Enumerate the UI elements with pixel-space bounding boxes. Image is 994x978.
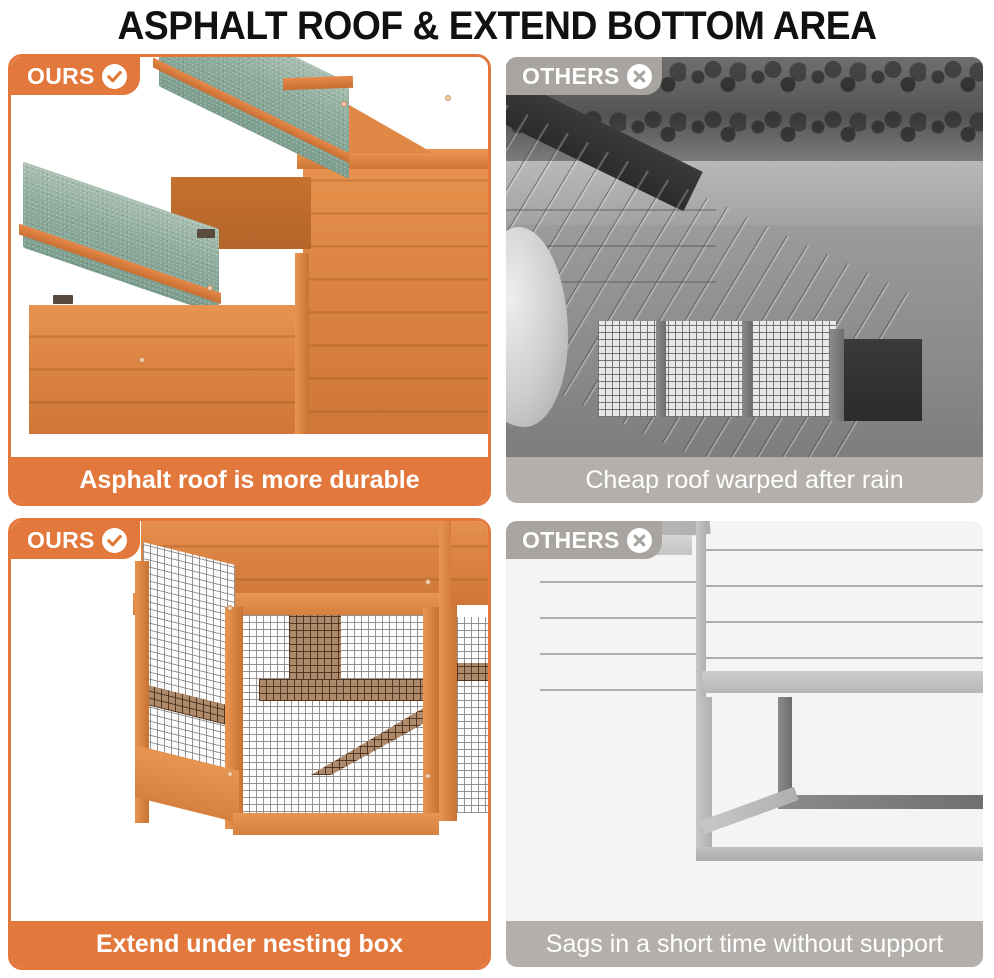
outdoor-photo-scene xyxy=(506,57,983,457)
screw-head xyxy=(227,605,233,611)
run-mesh-shadow xyxy=(457,663,488,681)
infographic-page: ASPHALT ROOF & EXTEND BOTTOM AREA xyxy=(0,0,994,978)
badge-others: OTHERS xyxy=(506,521,662,559)
badge-label: OURS xyxy=(27,65,95,88)
mesh-divider xyxy=(742,321,752,417)
coop-illustration xyxy=(11,57,488,457)
corner-post-gray xyxy=(830,329,844,421)
screw-head xyxy=(139,357,145,363)
dark-recess xyxy=(844,339,922,421)
screw-head xyxy=(425,773,431,779)
plank-texture xyxy=(451,521,488,605)
screw-head xyxy=(425,579,431,585)
lid-hinge-left xyxy=(53,295,73,304)
lid-hinge-right xyxy=(197,229,215,238)
run-illustration xyxy=(11,521,488,921)
screw-head xyxy=(445,95,451,101)
panel-ours-extend-bottom: OURS Extend under nesting box xyxy=(8,518,491,970)
wire-mesh-panel xyxy=(598,321,836,417)
badge-label: OURS xyxy=(27,529,95,552)
plank-texture xyxy=(303,149,488,434)
run-mesh-shadow xyxy=(259,679,435,701)
bottom-trim xyxy=(702,671,983,693)
x-circle-icon xyxy=(627,64,652,89)
run-rail-bottom-front xyxy=(233,813,439,835)
caption-others-sag: Sags in a short time without support xyxy=(506,921,983,967)
caption-ours-extend: Extend under nesting box xyxy=(11,921,488,967)
panel-others-warped-roof: OTHERS Cheap roof warped after rain xyxy=(503,54,986,506)
panel-image-ours-run xyxy=(11,521,488,921)
coop-wall-right xyxy=(702,521,983,691)
cross-rail xyxy=(778,795,983,809)
run-post-right xyxy=(423,607,439,819)
corner-post xyxy=(295,253,309,434)
coop-wall-left xyxy=(540,547,702,697)
panel-others-sagging: OTHERS Sags in a short time without supp… xyxy=(503,518,986,970)
panel-ours-asphalt-roof: OURS Asphalt roof is more durable xyxy=(8,54,491,506)
panel-image-others-roof xyxy=(506,57,983,457)
nesting-box-body xyxy=(29,305,305,434)
check-circle-icon xyxy=(102,528,127,553)
badge-ours: OURS xyxy=(11,521,140,559)
badge-label: OTHERS xyxy=(522,529,620,552)
right-bay-body xyxy=(451,521,488,605)
ground-rail xyxy=(696,847,983,861)
page-title: ASPHALT ROOF & EXTEND BOTTOM AREA xyxy=(35,0,959,52)
screw-head xyxy=(207,285,213,291)
check-circle-icon xyxy=(102,64,127,89)
caption-others-roof: Cheap roof warped after rain xyxy=(506,457,983,503)
panel-image-ours-roof xyxy=(11,57,488,457)
screw-head xyxy=(227,771,233,777)
panel-image-others-sag xyxy=(506,521,983,921)
x-circle-icon xyxy=(627,528,652,553)
mesh-divider xyxy=(656,321,666,417)
badge-others: OTHERS xyxy=(506,57,662,95)
badge-ours: OURS xyxy=(11,57,140,95)
plank-texture xyxy=(29,305,305,434)
coop-body-right xyxy=(303,149,488,434)
comparison-grid: OURS Asphalt roof is more durable xyxy=(8,54,986,970)
screw-head xyxy=(341,101,347,107)
badge-label: OTHERS xyxy=(522,65,620,88)
caption-ours-roof: Asphalt roof is more durable xyxy=(11,457,488,503)
run-mesh-right-bay xyxy=(457,617,488,813)
sagging-coop-scene xyxy=(506,521,983,921)
ridge-cap xyxy=(283,76,353,90)
